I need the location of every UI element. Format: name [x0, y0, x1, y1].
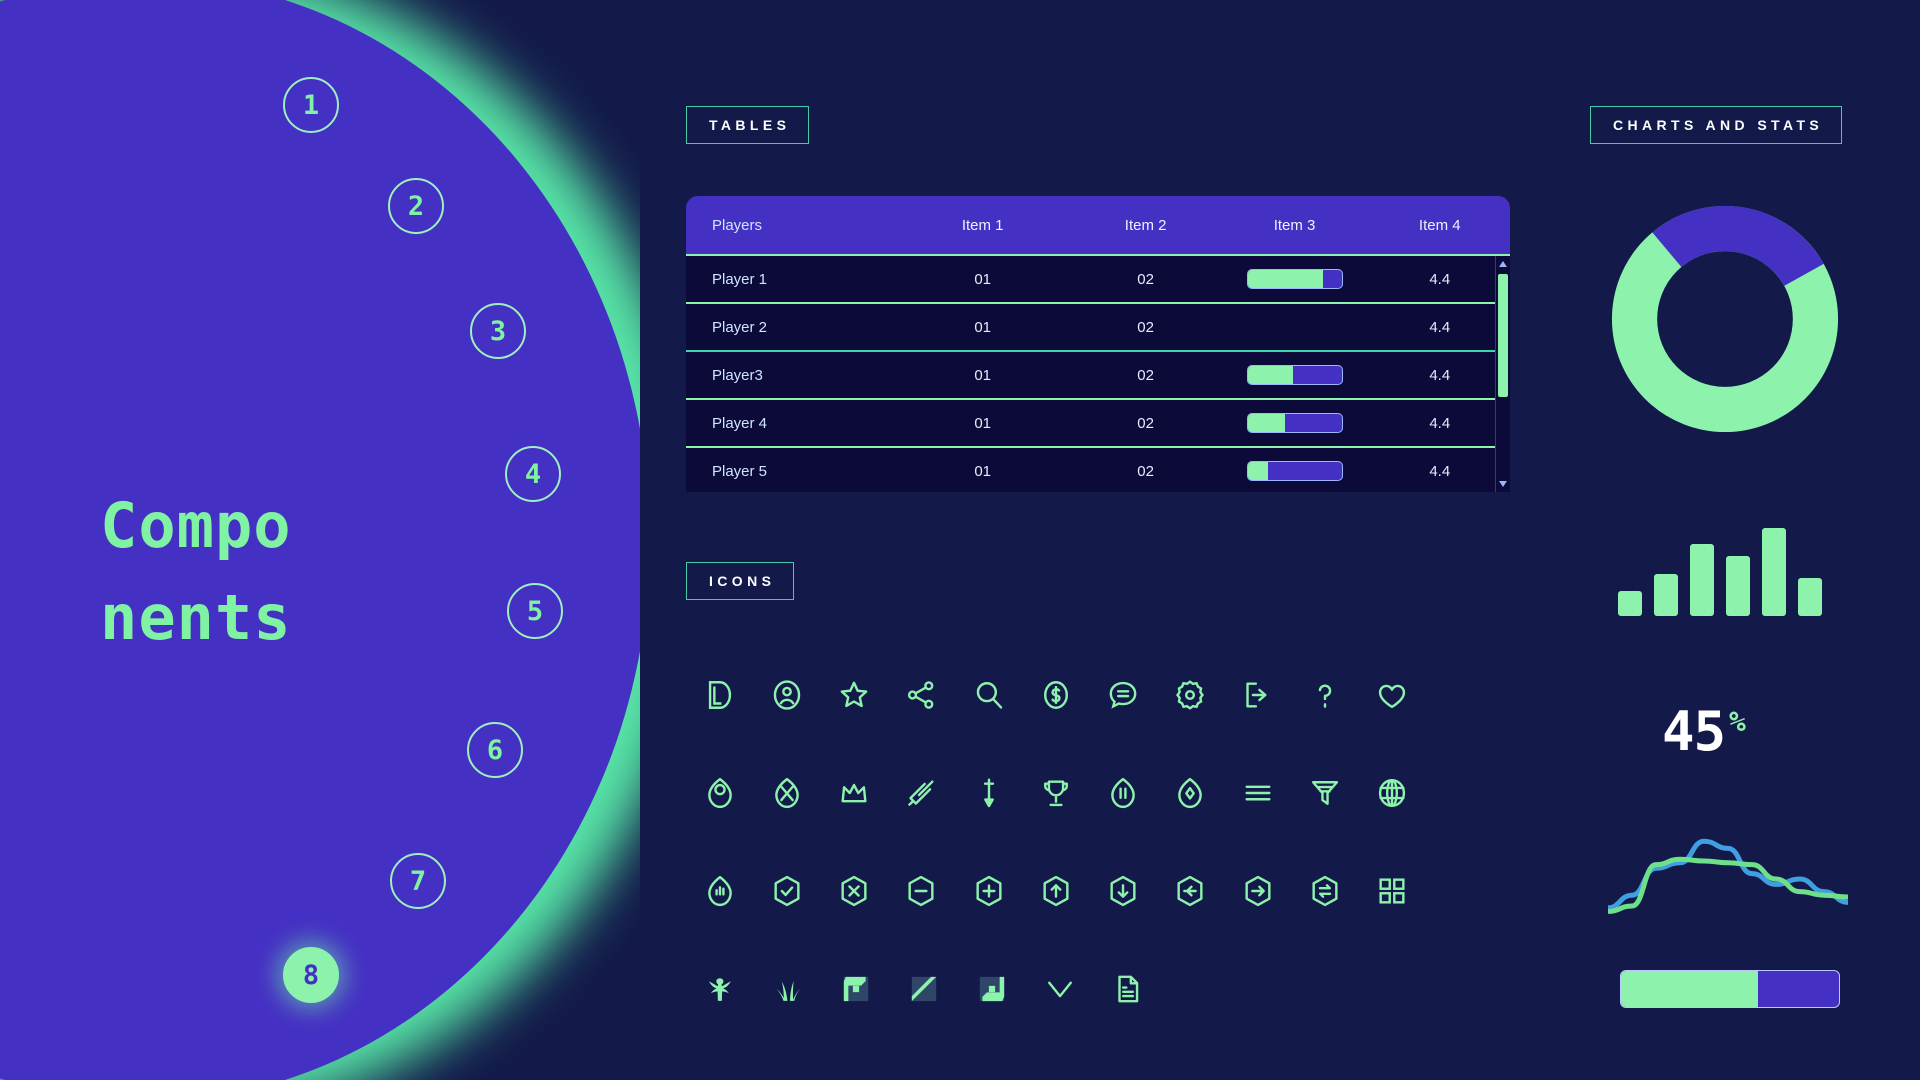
column-header-item3: Item 3	[1220, 217, 1370, 234]
square-emblem-icon[interactable]	[822, 972, 890, 1006]
logout-icon[interactable]	[1224, 678, 1291, 712]
progress-bar	[1247, 365, 1343, 385]
cell-item1: 01	[894, 271, 1072, 288]
plus-hex-icon[interactable]	[955, 874, 1022, 908]
cell-item2: 02	[1072, 271, 1220, 288]
percent-value: 45	[1662, 700, 1725, 763]
table-row[interactable]: Player 101024.4	[686, 256, 1510, 304]
stats-icon[interactable]	[686, 874, 753, 908]
cell-item3	[1220, 317, 1370, 337]
bar-5	[1762, 528, 1786, 616]
cell-player-name: Player 1	[686, 271, 894, 288]
square-emblem-alt-icon[interactable]	[958, 972, 1026, 1006]
step-circle-5[interactable]: 5	[507, 583, 563, 639]
cell-item1: 01	[894, 367, 1072, 384]
step-circle-2[interactable]: 2	[388, 178, 444, 234]
page-title: Compo nents	[100, 480, 520, 664]
bar-6	[1798, 578, 1822, 616]
table-row[interactable]: Player 201024.4	[686, 304, 1510, 352]
cell-item3	[1220, 269, 1370, 289]
tables-section-badge: TABLES	[686, 106, 809, 144]
globe-icon[interactable]	[1359, 776, 1426, 810]
column-header-players: Players	[686, 217, 894, 234]
insect-icon[interactable]	[686, 972, 754, 1006]
gear-icon[interactable]	[1157, 678, 1224, 712]
icon-row	[686, 940, 1426, 1038]
cell-item4: 4.4	[1370, 415, 1511, 432]
cell-item2: 02	[1072, 415, 1220, 432]
progress-fill	[1248, 414, 1286, 432]
chat-icon[interactable]	[1090, 678, 1157, 712]
cell-item3	[1220, 365, 1370, 385]
table-body[interactable]: Player 101024.4Player 201024.4Player3010…	[686, 256, 1510, 492]
shield-x-icon[interactable]	[753, 776, 820, 810]
swap-hex-icon[interactable]	[1291, 874, 1358, 908]
chevron-down-icon[interactable]	[1026, 972, 1094, 1006]
cell-item1: 01	[894, 463, 1072, 480]
scroll-down-arrow-icon[interactable]	[1499, 481, 1507, 487]
cell-player-name: Player 2	[686, 319, 894, 336]
icons-section-badge: ICONS	[686, 562, 794, 600]
cell-item4: 4.4	[1370, 463, 1511, 480]
share-icon[interactable]	[888, 678, 955, 712]
progress-fill	[1248, 462, 1269, 480]
search-icon[interactable]	[955, 678, 1022, 712]
dollar-circle-icon[interactable]	[1022, 678, 1089, 712]
progress-bar	[1247, 461, 1343, 481]
cell-item3	[1220, 461, 1370, 481]
column-header-item2: Item 2	[1072, 217, 1220, 234]
step-circle-7[interactable]: 7	[390, 853, 446, 909]
step-circle-8[interactable]: 8	[283, 947, 339, 1003]
icon-row	[686, 842, 1426, 940]
cell-item2: 02	[1072, 319, 1220, 336]
cell-item1: 01	[894, 415, 1072, 432]
players-table: Players Item 1 Item 2 Item 3 Item 4 Play…	[686, 196, 1510, 492]
scrollbar-thumb[interactable]	[1498, 274, 1508, 397]
cell-item2: 02	[1072, 463, 1220, 480]
shield-icon[interactable]	[686, 776, 753, 810]
step-circle-1[interactable]: 1	[283, 77, 339, 133]
table-row[interactable]: Player 401024.4	[686, 400, 1510, 448]
user-circle-icon[interactable]	[753, 678, 820, 712]
cell-item4: 4.4	[1370, 271, 1511, 288]
cell-player-name: Player 4	[686, 415, 894, 432]
column-header-item1: Item 1	[894, 217, 1072, 234]
check-hex-icon[interactable]	[753, 874, 820, 908]
bar-3	[1690, 544, 1714, 616]
cell-player-name: Player 5	[686, 463, 894, 480]
hex-eye-icon[interactable]	[1157, 776, 1224, 810]
icon-row	[686, 744, 1426, 842]
line-series-blue	[1608, 841, 1848, 908]
progress-fill	[1248, 366, 1293, 384]
scroll-up-arrow-icon[interactable]	[1499, 261, 1507, 267]
cell-item4: 4.4	[1370, 367, 1511, 384]
icon-row	[686, 646, 1426, 744]
cell-item3	[1220, 413, 1370, 433]
table-row[interactable]: Player301024.4	[686, 352, 1510, 400]
star-icon[interactable]	[821, 678, 888, 712]
document-icon[interactable]	[1094, 972, 1162, 1006]
step-circle-4[interactable]: 4	[505, 446, 561, 502]
cell-player-name: Player3	[686, 367, 894, 384]
icon-gallery	[686, 646, 1426, 1038]
column-header-item4: Item 4	[1370, 217, 1511, 234]
grass-icon[interactable]	[754, 972, 822, 1006]
charts-section-badge: CHARTS AND STATS	[1590, 106, 1842, 144]
progress-bar	[1247, 269, 1343, 289]
menu-icon[interactable]	[1224, 776, 1291, 810]
bottom-progress-bar[interactable]	[1620, 970, 1840, 1008]
hero-panel: Compo nents	[0, 0, 640, 1080]
dagger-icon[interactable]	[955, 776, 1022, 810]
line-chart	[1608, 820, 1848, 920]
progress-bar	[1247, 317, 1343, 337]
table-scrollbar[interactable]	[1495, 256, 1510, 492]
minus-hex-icon[interactable]	[888, 874, 955, 908]
table-header-row: Players Item 1 Item 2 Item 3 Item 4	[686, 196, 1510, 256]
heart-icon[interactable]	[1359, 678, 1426, 712]
pause-hex-icon[interactable]	[1090, 776, 1157, 810]
percent-symbol: %	[1729, 705, 1745, 738]
step-circle-6[interactable]: 6	[467, 722, 523, 778]
bar-2	[1654, 574, 1678, 616]
step-circle-3[interactable]: 3	[470, 303, 526, 359]
cell-item2: 02	[1072, 367, 1220, 384]
arrow-left-hex-icon[interactable]	[1157, 874, 1224, 908]
bar-chart	[1618, 516, 1830, 616]
percent-stat: 45%	[1662, 700, 1745, 763]
bar-4	[1726, 556, 1750, 616]
table-row[interactable]: Player 501024.4	[686, 448, 1510, 492]
crown-icon[interactable]	[821, 776, 888, 810]
bottom-progress-fill	[1621, 971, 1758, 1007]
cell-item4: 4.4	[1370, 319, 1511, 336]
slash-square-icon[interactable]	[890, 972, 958, 1006]
arrow-down-hex-icon[interactable]	[1090, 874, 1157, 908]
question-icon[interactable]	[1291, 678, 1358, 712]
donut-chart	[1606, 200, 1844, 438]
arrow-right-hex-icon[interactable]	[1224, 874, 1291, 908]
close-hex-icon[interactable]	[821, 874, 888, 908]
trophy-icon[interactable]	[1022, 776, 1089, 810]
bar-1	[1618, 591, 1642, 616]
arrow-up-hex-icon[interactable]	[1022, 874, 1089, 908]
grid-icon[interactable]	[1359, 874, 1426, 908]
logo-icon[interactable]	[686, 678, 753, 712]
sword-icon[interactable]	[888, 776, 955, 810]
progress-bar	[1247, 413, 1343, 433]
progress-fill	[1248, 270, 1323, 288]
cell-item1: 01	[894, 319, 1072, 336]
filter-icon[interactable]	[1291, 776, 1358, 810]
